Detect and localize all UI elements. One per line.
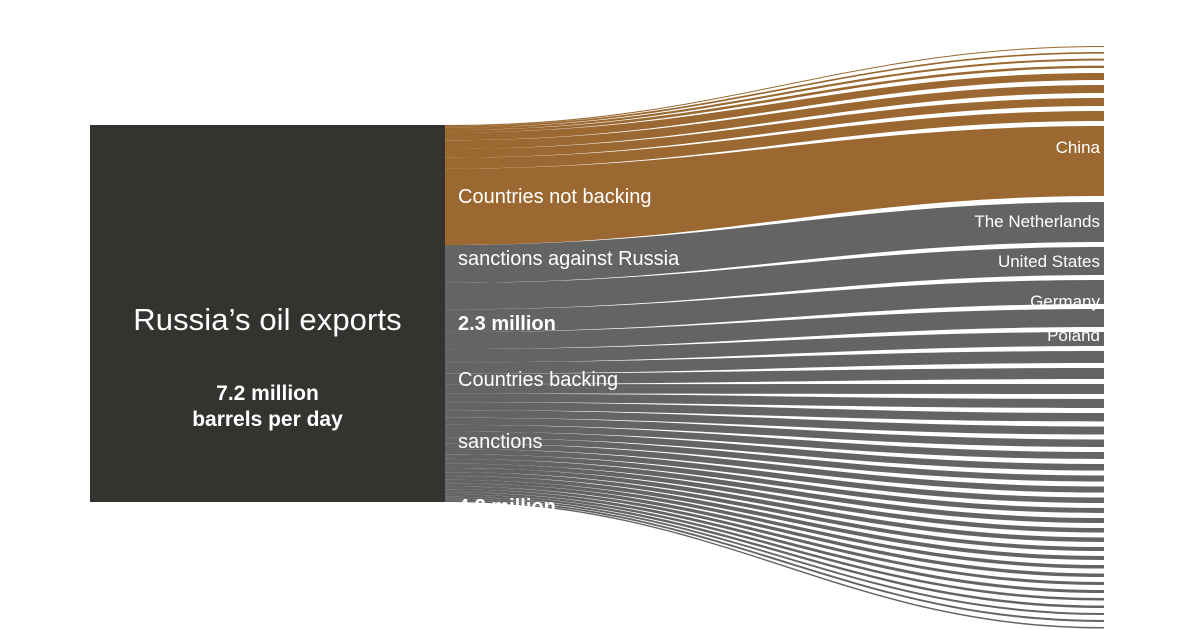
group-name-line2: sanctions <box>458 429 788 455</box>
group-name-line1: Countries backing <box>458 367 788 393</box>
group-name-line1: Countries not backing <box>458 184 788 210</box>
destination-label-united-states: United States <box>998 252 1100 272</box>
source-value-number: 7.2 million <box>216 382 319 405</box>
group-label-backing: Countries backing sanctions 4.8 million <box>458 331 788 556</box>
source-value-unit: barrels per day <box>192 408 343 431</box>
group-value-backing: 4.8 million <box>458 494 788 520</box>
destination-label-poland: Poland <box>1047 326 1100 346</box>
page-title: Russia’s oil exports <box>90 301 445 339</box>
sankey-chart: Russia’s oil exports 7.2 millionbarrels … <box>0 0 1200 630</box>
destination-label-the-netherlands: The Netherlands <box>974 212 1100 232</box>
destination-label-china: China <box>1056 138 1100 158</box>
destination-label-germany: Germany <box>1030 292 1100 312</box>
source-node-label: Russia’s oil exports 7.2 millionbarrels … <box>90 265 445 469</box>
source-value: 7.2 millionbarrels per day <box>90 381 445 433</box>
group-name-line2: sanctions against Russia <box>458 246 788 272</box>
